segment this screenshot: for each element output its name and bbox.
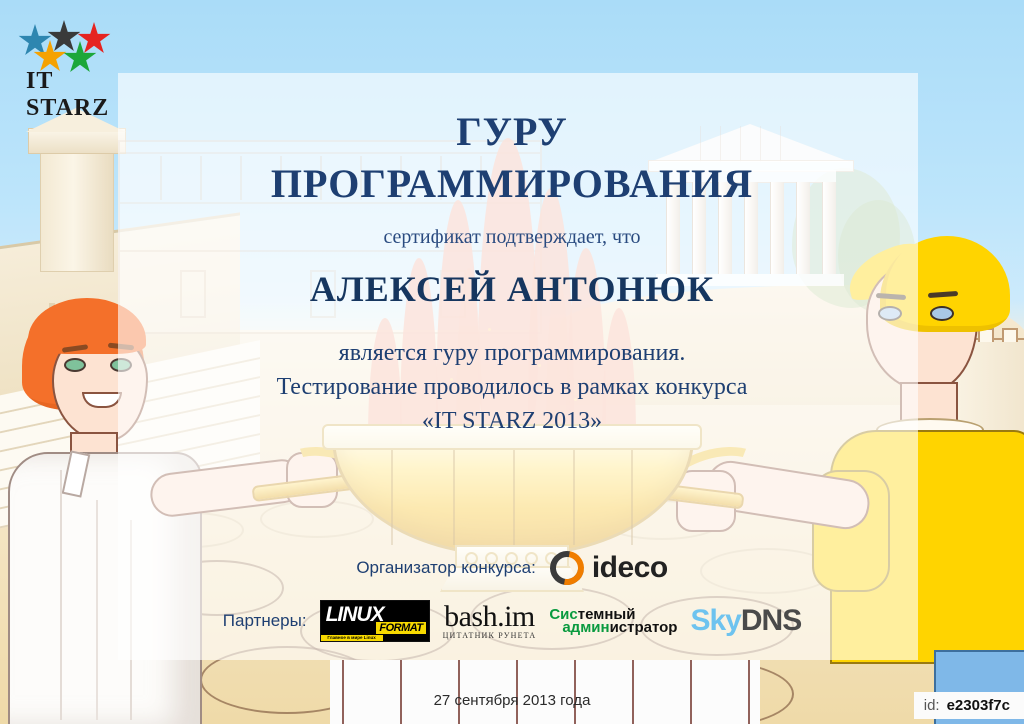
- ideco-swirl-icon: [550, 551, 584, 585]
- skydns-part2: DNS: [741, 604, 801, 637]
- id-label: id:: [924, 697, 940, 714]
- certificate-body-line2: Тестирование проводилось в рамках конкур…: [0, 370, 1024, 404]
- linux-format-tagline: Главное в мире Linux: [321, 635, 383, 641]
- ideco-logo-text: ideco: [592, 551, 668, 585]
- bash-im-sub: ЦИТАТНИК РУНЕТА: [443, 631, 537, 640]
- certificate-title-line2: ПРОГРАММИРОВАНИЯ: [0, 160, 1024, 207]
- linux-format-name: LINUX: [326, 603, 384, 627]
- partner-logo-bash-im[interactable]: bash.im ЦИТАТНИК РУНЕТА: [443, 603, 537, 640]
- certificate-id-box: id: e2303f7c: [914, 692, 1024, 719]
- sysadmin-part3: админ: [562, 619, 609, 636]
- organizer-row: Организатор конкурса: ideco: [0, 551, 1024, 585]
- id-value: e2303f7c: [947, 697, 1010, 714]
- certificate-body: является гуру программирования. Тестиров…: [0, 336, 1024, 438]
- partner-logo-linux-format[interactable]: LINUX FORMAT Главное в мире Linux: [320, 600, 430, 642]
- partner-logo-sysadmin[interactable]: Системный администратор: [549, 608, 677, 634]
- recipient-name: АЛЕКСЕЙ АНТОНЮК: [0, 268, 1024, 310]
- sysadmin-line2: администратор: [549, 619, 677, 636]
- organizer-label: Организатор конкурса:: [356, 558, 536, 578]
- sysadmin-part4: истратор: [610, 619, 678, 636]
- partners-row: Партнеры: LINUX FORMAT Главное в мире Li…: [0, 600, 1024, 642]
- certificate-confirm-text: сертификат подтверждает, что: [0, 226, 1024, 249]
- certificate-date: 27 сентября 2013 года: [0, 692, 1024, 709]
- skydns-part1: Sky: [690, 604, 740, 637]
- certificate-title-line1: ГУРУ: [0, 108, 1024, 155]
- partners-label: Партнеры:: [223, 611, 307, 631]
- partner-logo-skydns[interactable]: SkyDNS: [690, 604, 801, 638]
- ideco-logo[interactable]: ideco: [550, 551, 668, 585]
- linux-format-sub: FORMAT: [376, 622, 425, 634]
- bash-im-name: bash.im: [444, 603, 535, 631]
- certificate-body-line3: «IT STARZ 2013»: [0, 404, 1024, 438]
- certificate-body-line1: является гуру программирования.: [0, 336, 1024, 370]
- certificate-canvas: IT STARZ ГУРУ ПРОГРАММИРОВАНИЯ сертифика…: [0, 0, 1024, 724]
- it-starz-logo: IT STARZ: [14, 16, 114, 96]
